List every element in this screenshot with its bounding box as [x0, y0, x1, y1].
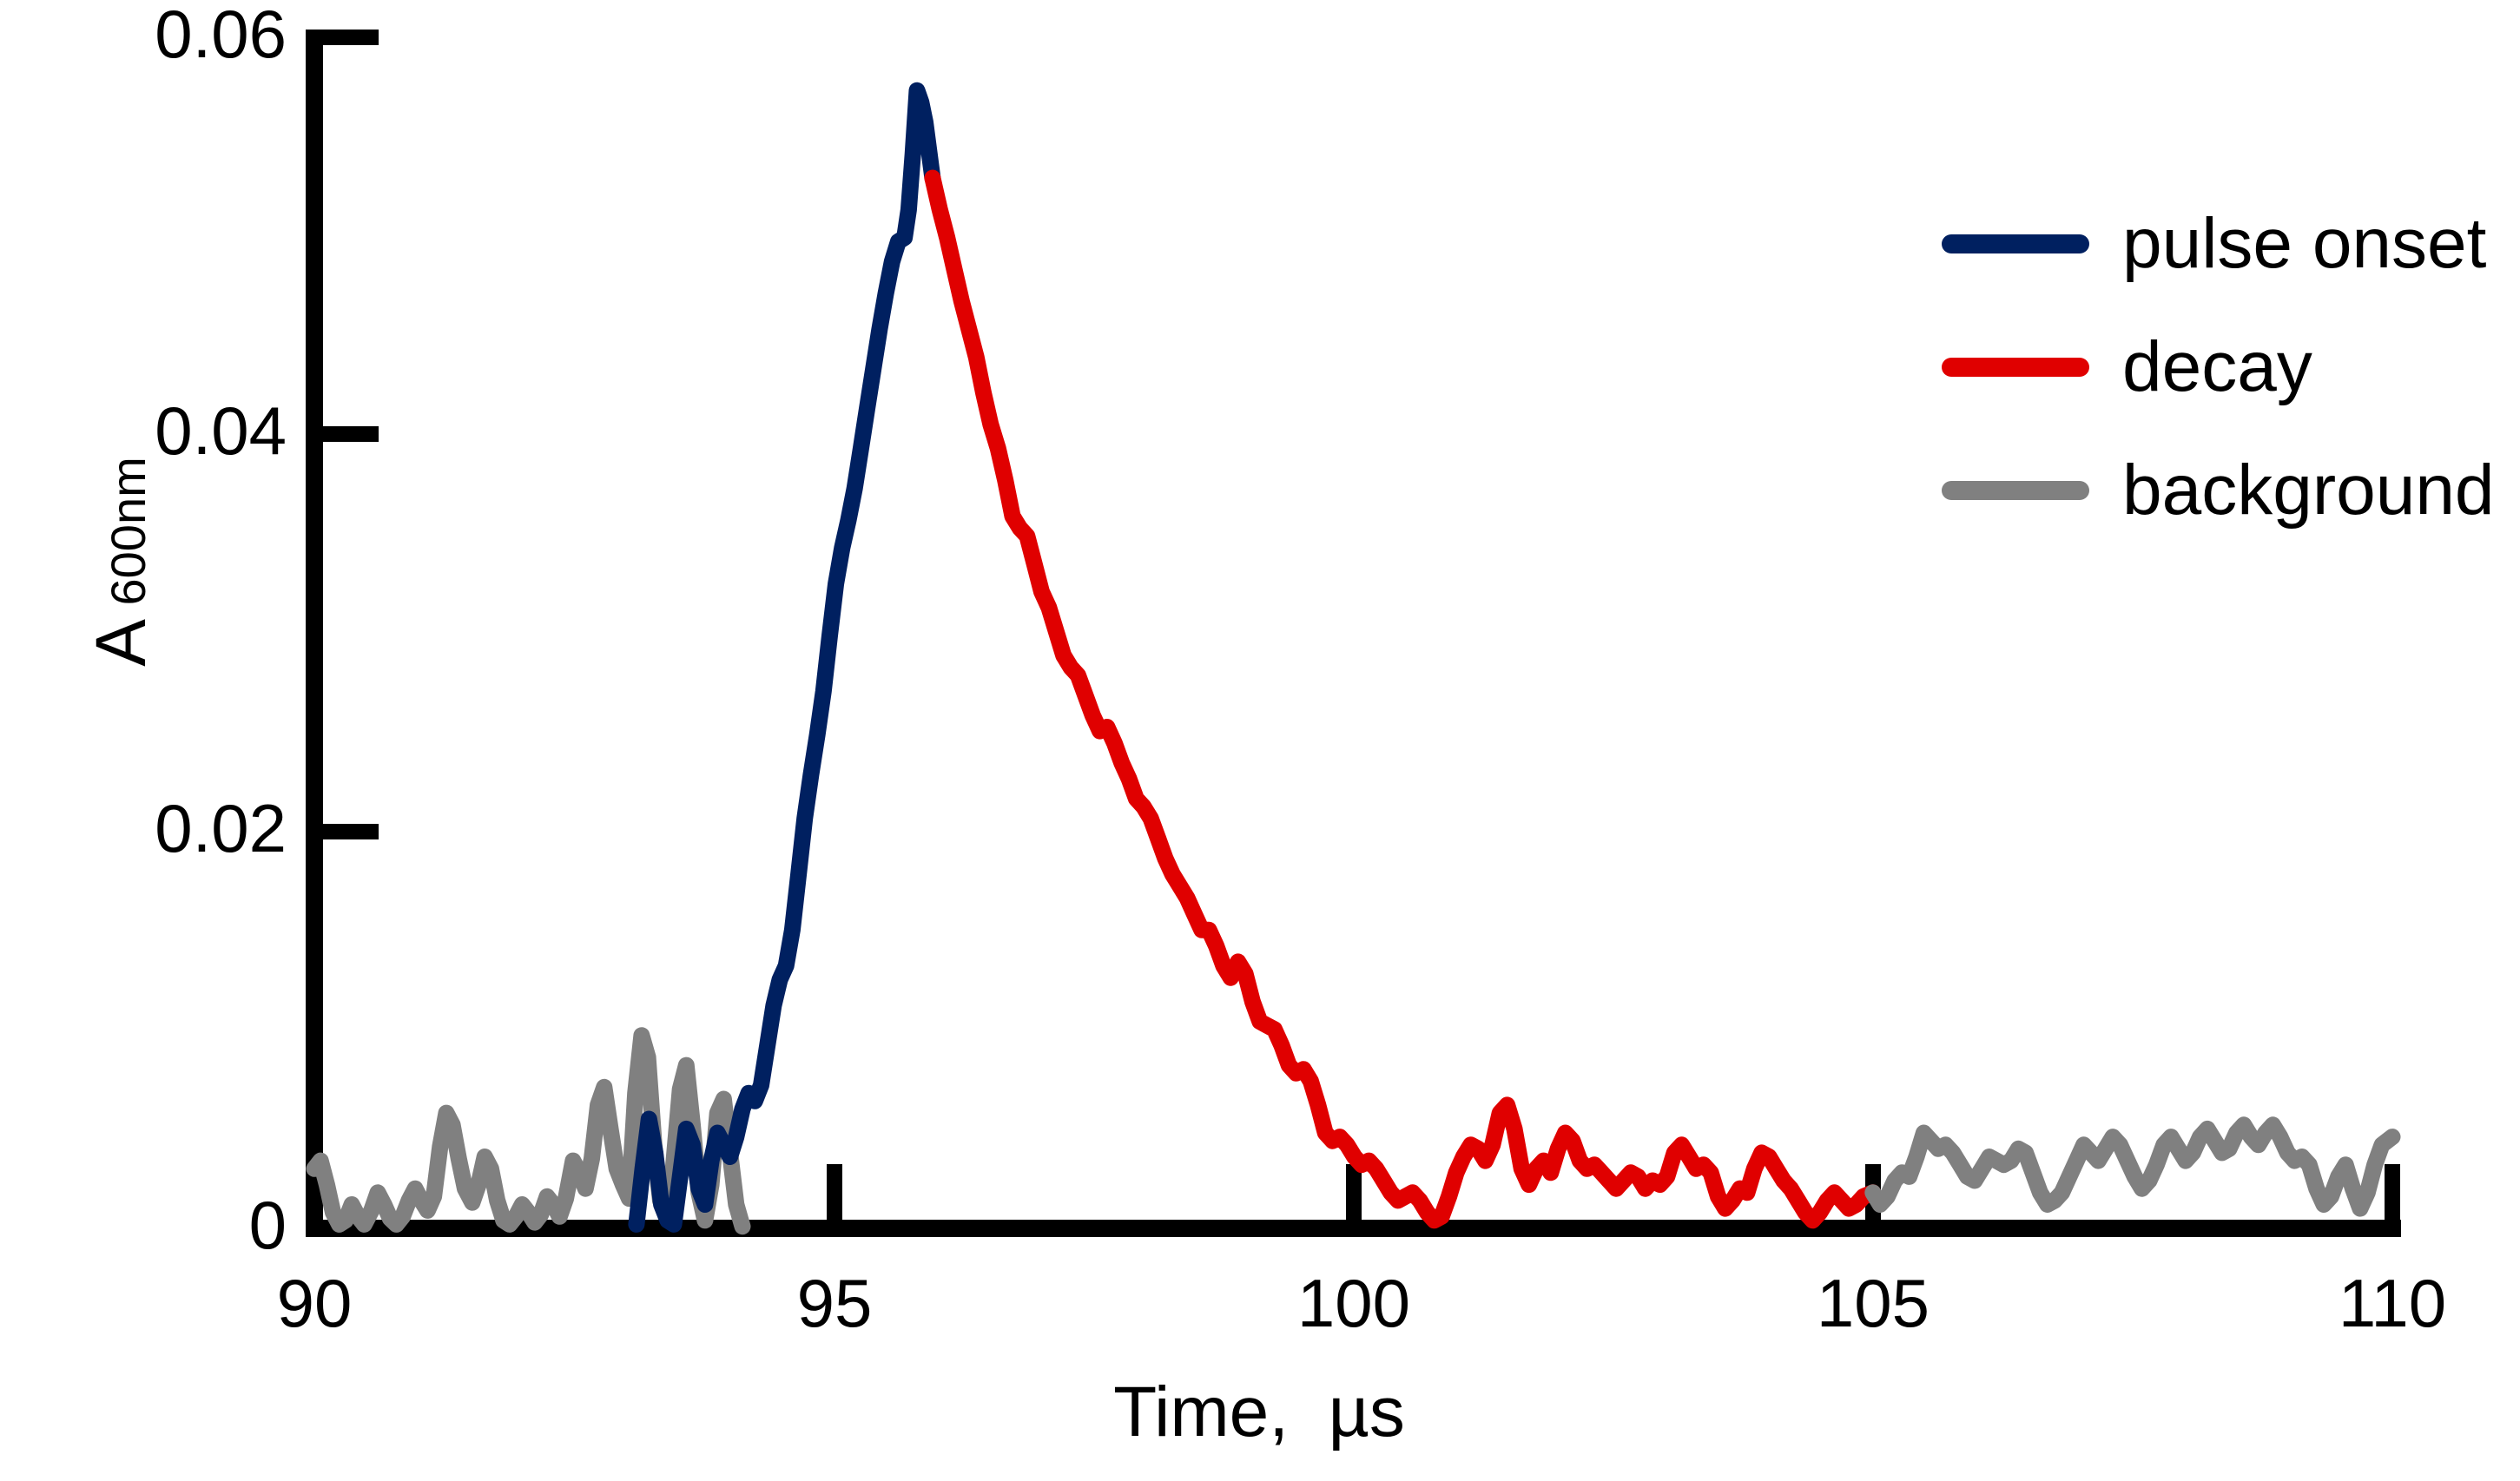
legend-swatch-decay: [1942, 358, 2089, 377]
y-tick-marks: [314, 37, 379, 832]
legend-label-pulse-onset: pulse onset: [2122, 208, 2486, 280]
y-axis-title-subscript: 600nm: [101, 457, 155, 619]
x-tick-label-105: 105: [1778, 1269, 1969, 1337]
y-axis-title: A 600nm: [81, 388, 162, 735]
series-line-decay-2: [933, 178, 1873, 1221]
legend-swatch-background: [1942, 481, 2089, 500]
legend-label-background: background: [2122, 455, 2495, 526]
x-tick-label-110: 110: [2297, 1269, 2488, 1337]
legend-item-background[interactable]: background: [1942, 429, 2515, 552]
legend-item-decay[interactable]: decay: [1942, 306, 2515, 429]
series-line-background-3: [1873, 1125, 2392, 1208]
y-tick-label-0: 0: [52, 1191, 287, 1259]
chart-figure: 0.06 0.04 0.02 0 90 95 100 105 110 A 600…: [0, 0, 2520, 1481]
y-axis-title-main: A: [82, 619, 161, 667]
legend-swatch-pulse-onset: [1942, 234, 2089, 253]
x-tick-label-90: 90: [219, 1269, 410, 1337]
x-tick-label-100: 100: [1258, 1269, 1449, 1337]
chart-legend: pulse onset decay background: [1942, 182, 2515, 552]
x-tick-label-95: 95: [739, 1269, 930, 1337]
legend-item-pulse-onset[interactable]: pulse onset: [1942, 182, 2515, 306]
x-axis-title: Time, µs: [999, 1372, 1520, 1453]
legend-label-decay: decay: [2122, 332, 2312, 403]
y-tick-label-002: 0.02: [52, 794, 287, 862]
series-line-pulse-onset-1: [637, 90, 933, 1224]
y-tick-label-006: 0.06: [52, 0, 287, 68]
